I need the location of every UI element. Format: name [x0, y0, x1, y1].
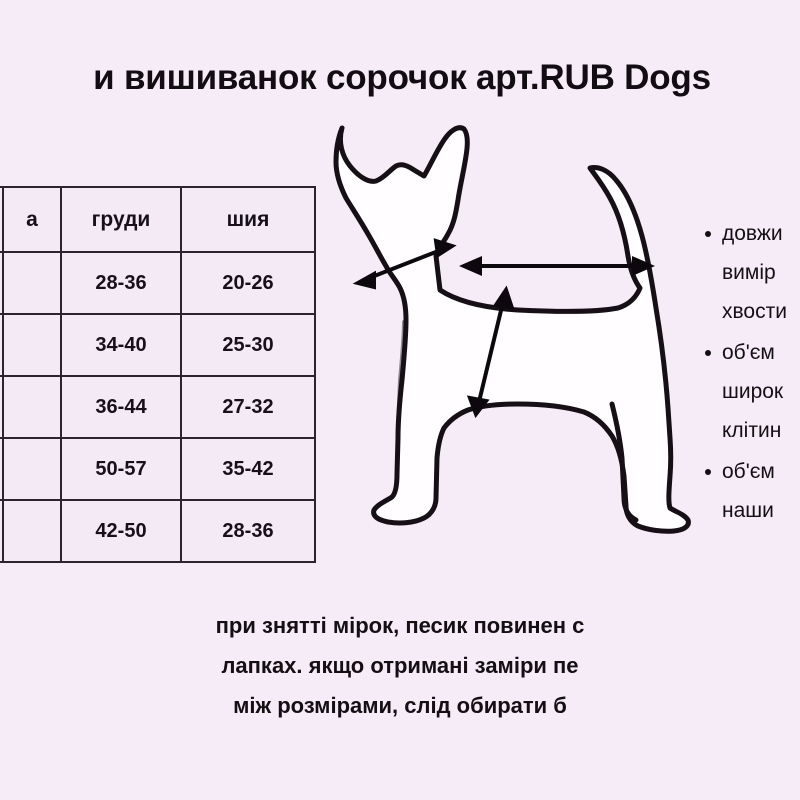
table-header-row: a груди шия — [0, 187, 315, 252]
column-header-length: a — [3, 187, 61, 252]
cell-neck: 28-36 — [181, 500, 315, 562]
measurement-note: при знятті мірок, песик повинен с лапках… — [0, 606, 800, 726]
measurement-bullet-list: довжи вимір хвости об'єм широк клітин об… — [700, 214, 800, 532]
page-title: и вишиванок сорочок арт.RUB Dogs — [0, 56, 800, 100]
cell-chest: 50-57 — [61, 438, 181, 500]
back-length-arrow — [464, 259, 650, 273]
table-row: 28-36 20-26 — [0, 252, 315, 314]
list-item: об'єм наши — [722, 452, 800, 530]
cell-neck: 35-42 — [181, 438, 315, 500]
dog-measurement-diagram — [318, 108, 718, 618]
cell-chest: 42-50 — [61, 500, 181, 562]
list-item: довжи вимір хвости — [722, 214, 800, 331]
cell-chest: 34-40 — [61, 314, 181, 376]
list-item: об'єм широк клітин — [722, 333, 800, 450]
size-chart-page: и вишиванок сорочок арт.RUB Dogs a груди… — [0, 0, 800, 800]
cell-chest: 36-44 — [61, 376, 181, 438]
column-header-neck: шия — [181, 187, 315, 252]
cell-neck: 20-26 — [181, 252, 315, 314]
table-row: 50-57 35-42 — [0, 438, 315, 500]
cell-chest: 28-36 — [61, 252, 181, 314]
cell-length — [3, 438, 61, 500]
dog-outline-icon — [336, 128, 688, 532]
cell-length — [3, 376, 61, 438]
table-row: 42-50 28-36 — [0, 500, 315, 562]
size-table: a груди шия 28-36 20-26 34-40 25-30 36 — [0, 186, 316, 563]
table-row: 34-40 25-30 — [0, 314, 315, 376]
cell-neck: 25-30 — [181, 314, 315, 376]
cell-length — [3, 252, 61, 314]
cell-length — [3, 314, 61, 376]
cell-length — [3, 500, 61, 562]
cell-neck: 27-32 — [181, 376, 315, 438]
column-header-chest: груди — [61, 187, 181, 252]
table-row: 36-44 27-32 — [0, 376, 315, 438]
